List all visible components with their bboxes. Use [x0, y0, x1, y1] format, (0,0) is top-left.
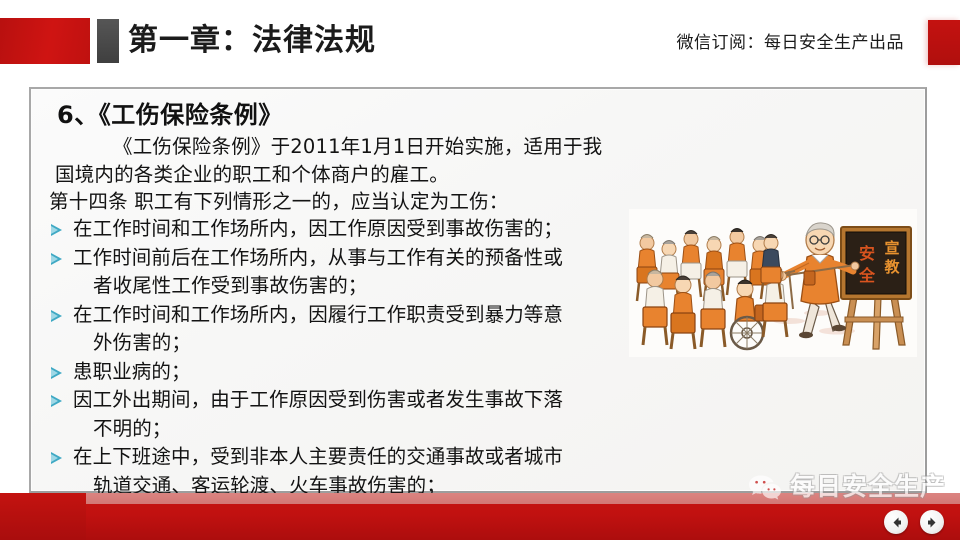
list-item-line-primary: 在工作时间和工作场所内，因工作原因受到事故伤害的；	[73, 215, 629, 244]
brand-watermark: 每日安全生产	[748, 470, 946, 504]
list-item-line-primary: 工作时间前后在工作场所内，从事与工作有关的预备性或	[73, 244, 629, 273]
list-item-line-primary: 在工作时间和工作场所内，因履行工作职责受到暴力等意	[73, 301, 629, 330]
list-item-line-continued: 不明的；	[73, 415, 629, 444]
chapter-title: 第一章：法律法规	[128, 21, 376, 61]
header-gray-accent-block	[97, 19, 119, 63]
list-item-line-continued: 者收尾性工作受到事故伤害的；	[73, 272, 629, 301]
svg-text:安: 安	[859, 244, 875, 263]
arrow-bullet-icon	[51, 452, 62, 464]
svg-text:全: 全	[858, 266, 876, 285]
slide-root: 第一章：法律法规 微信订阅：每日安全生产出品 6、《工伤保险条例》 《工伤保险条…	[0, 0, 960, 540]
illustration-graphic: 宣 教 安 全	[629, 209, 917, 357]
list-item-line-continued: 外伤害的；	[73, 329, 629, 358]
list-item: 因工外出期间，由于工作原因受到伤害或者发生事故下落 不明的；	[49, 386, 629, 443]
list-item: 在工作时间和工作场所内，因工作原因受到事故伤害的；	[49, 215, 629, 244]
list-item: 患职业病的；	[49, 358, 629, 387]
arrow-left-icon	[890, 516, 903, 529]
arrow-right-icon	[926, 516, 939, 529]
header-corner-red-block	[928, 20, 960, 65]
svg-text:宣: 宣	[884, 239, 899, 257]
clause-heading: 第十四条 职工有下列情形之一的，应当认定为工伤：	[49, 188, 509, 216]
list-item-line-primary: 患职业病的；	[73, 358, 629, 387]
intro-paragraph: 《工伤保险条例》于2011年1月1日开始实施，适用于我国境内的各类企业的职工和个…	[55, 133, 615, 189]
arrow-bullet-icon	[51, 395, 62, 407]
section-title: 6、《工伤保险条例》	[57, 99, 283, 131]
arrow-bullet-icon	[51, 310, 62, 322]
safety-training-illustration: 宣 教 安 全	[629, 209, 917, 357]
conditions-list: 在工作时间和工作场所内，因工作原因受到事故伤害的； 工作时间前后在工作场所内，从…	[49, 215, 629, 529]
prev-slide-button[interactable]	[884, 510, 908, 534]
watermark-label: 每日安全生产	[790, 472, 946, 502]
slide-header: 第一章：法律法规 微信订阅：每日安全生产出品	[0, 0, 960, 82]
subscribe-label: 微信订阅：每日安全生产出品	[677, 31, 905, 55]
svg-text:教: 教	[883, 258, 900, 276]
header-red-accent-block	[0, 18, 90, 64]
list-item: 在工作时间和工作场所内，因履行工作职责受到暴力等意 外伤害的；	[49, 301, 629, 358]
list-item: 在上下班途中，受到非本人主要责任的交通事故或者城市 轨道交通、客运轮渡、火车事故…	[49, 443, 629, 500]
next-slide-button[interactable]	[920, 510, 944, 534]
list-item: 工作时间前后在工作场所内，从事与工作有关的预备性或 者收尾性工作受到事故伤害的；	[49, 244, 629, 301]
content-panel: 6、《工伤保险条例》 《工伤保险条例》于2011年1月1日开始实施，适用于我国境…	[29, 87, 927, 493]
footer-left-block	[0, 493, 86, 540]
wechat-icon	[748, 473, 782, 501]
arrow-bullet-icon	[51, 224, 62, 236]
arrow-bullet-icon	[51, 367, 62, 379]
slide-navigation	[884, 510, 944, 534]
blackboard: 宣 教 安 全	[841, 227, 911, 349]
arrow-bullet-icon	[51, 253, 62, 265]
list-item-line-primary: 因工外出期间，由于工作原因受到伤害或者发生事故下落	[73, 386, 629, 415]
list-item-line-primary: 在上下班途中，受到非本人主要责任的交通事故或者城市	[73, 443, 629, 472]
